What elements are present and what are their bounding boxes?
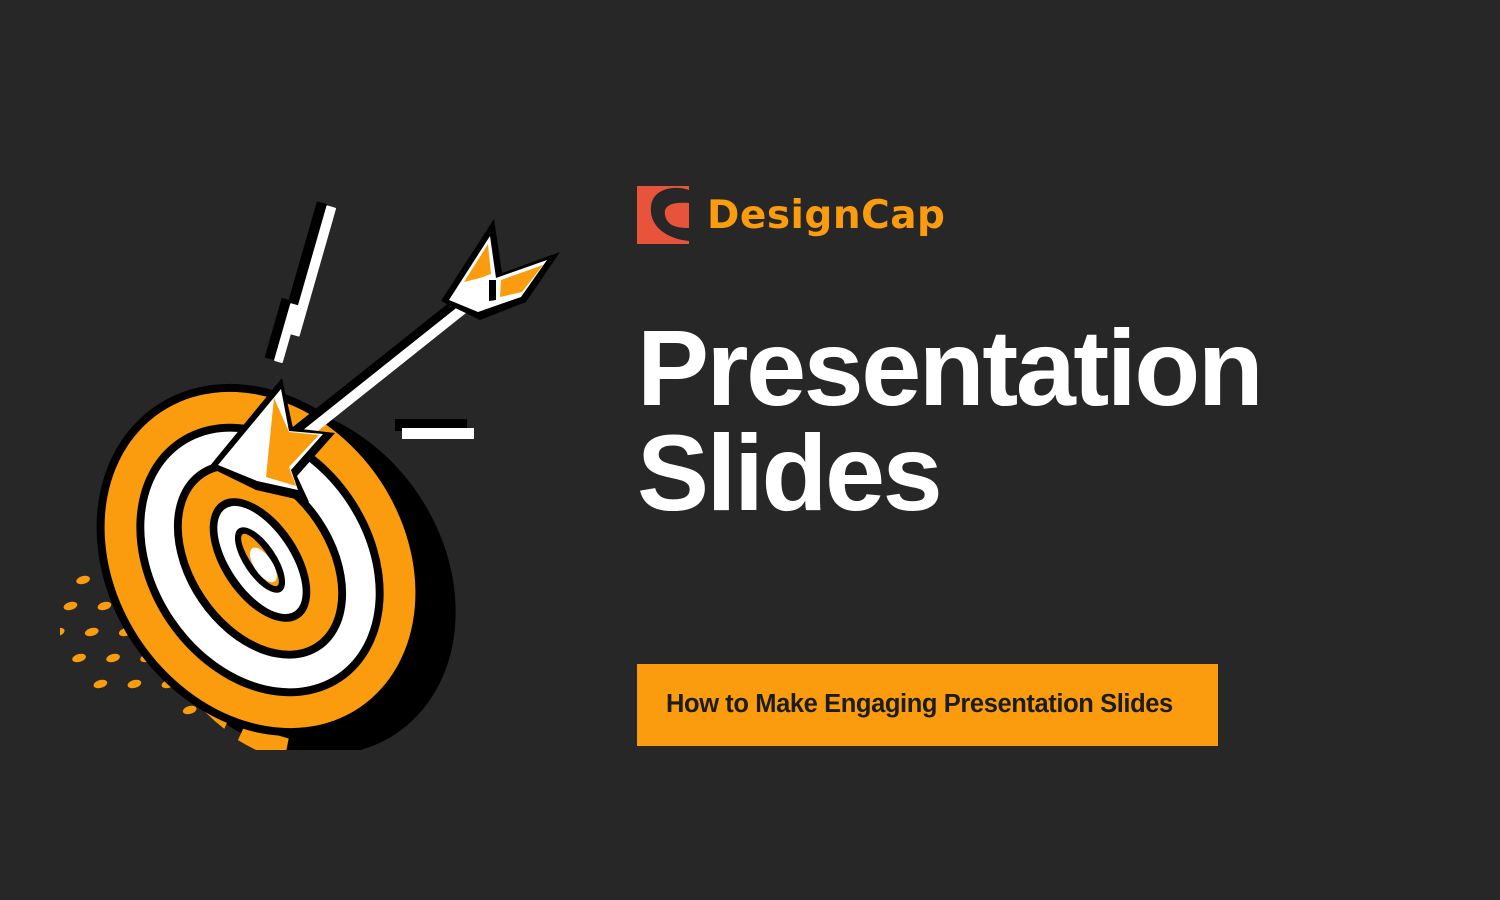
brand-lockup: DesignCap bbox=[637, 186, 945, 244]
brand-name: DesignCap bbox=[707, 196, 945, 235]
subtitle-banner: How to Make Engaging Presentation Slides bbox=[637, 664, 1218, 746]
page-title: Presentation Slides bbox=[637, 316, 1261, 526]
target-with-arrow-illustration bbox=[60, 170, 620, 750]
speed-lines bbox=[265, 201, 337, 363]
content-column: DesignCap Presentation Slides How to Mak… bbox=[637, 0, 1337, 900]
designcap-c-logomark-icon bbox=[637, 186, 689, 244]
subtitle-text: How to Make Engaging Presentation Slides bbox=[637, 692, 1193, 718]
arrow-fletching bbox=[441, 219, 560, 320]
impact-dash bbox=[395, 419, 474, 439]
presentation-slide: DesignCap Presentation Slides How to Mak… bbox=[0, 0, 1500, 900]
